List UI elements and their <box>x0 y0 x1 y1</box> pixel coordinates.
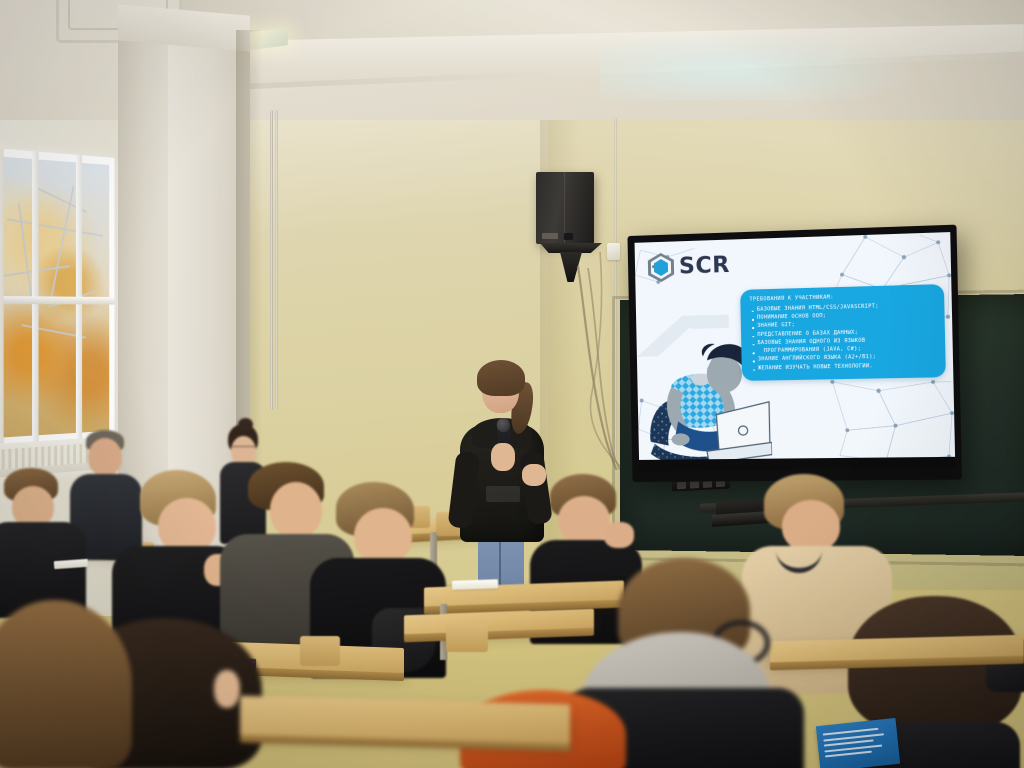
wall-mounted-display[interactable]: SCR <box>627 225 962 482</box>
logo-text: SCR <box>679 254 730 278</box>
presenter-hair <box>477 360 525 396</box>
chair <box>446 624 488 652</box>
hand <box>604 522 634 548</box>
scr-logo: SCR <box>648 251 730 283</box>
hair-bun <box>238 418 253 431</box>
head <box>354 508 412 564</box>
presenter-hand-holding-mic <box>491 443 515 471</box>
glasses-icon <box>232 446 255 452</box>
ceiling-light-glow <box>600 30 920 100</box>
presentation-slide: SCR <box>635 232 956 471</box>
head-back <box>558 496 610 544</box>
blue-flyer[interactable] <box>816 718 900 768</box>
wall-speaker <box>536 172 594 244</box>
classroom-window <box>0 148 114 478</box>
desk <box>240 696 570 745</box>
face <box>270 482 322 538</box>
hexagon-logo-icon <box>648 253 675 283</box>
wall-outlet <box>607 243 620 260</box>
hair <box>0 600 132 768</box>
presenter-hand <box>522 464 546 486</box>
wall-conduit-pipe <box>270 110 273 410</box>
ear <box>214 670 240 708</box>
face <box>88 438 122 476</box>
chair <box>300 636 340 666</box>
requirements-box: ТРЕБОВАНИЯ К УЧАСТНИКАМ: БАЗОВЫЕ ЗНАНИЯ … <box>740 284 946 381</box>
student-long-hair-left <box>0 600 132 768</box>
hoodie-print <box>486 486 520 502</box>
student-left-front <box>0 468 88 618</box>
desk-papers <box>452 579 498 590</box>
wall-conduit-pipe <box>275 110 278 410</box>
classroom-photo: SCR <box>0 0 1024 768</box>
